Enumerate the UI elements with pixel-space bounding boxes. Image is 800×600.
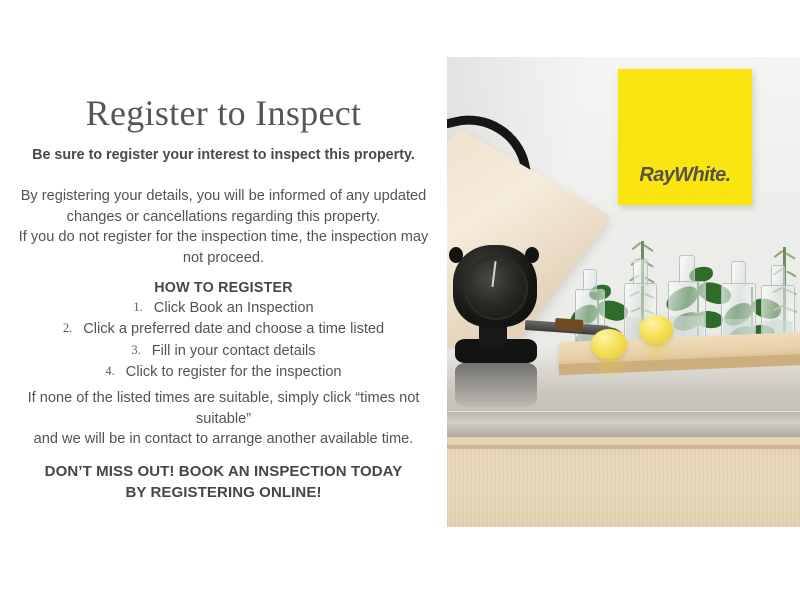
intro-paragraph-block: By registering your details, you will be… xyxy=(4,186,443,269)
call-to-action-line: BY REGISTERING ONLINE! xyxy=(8,482,439,503)
call-to-action: DON’T MISS OUT! BOOK AN INSPECTION TODAY… xyxy=(8,461,439,504)
closing-line: If none of the listed times are suitable… xyxy=(4,388,443,409)
list-item-label: Click Book an Inspection xyxy=(154,300,314,316)
knife-handle xyxy=(555,318,584,332)
list-item: 4.Click to register for the inspection xyxy=(0,362,447,383)
list-item: 1.Click Book an Inspection xyxy=(0,298,447,319)
slide-canvas: Register to Inspect Be sure to register … xyxy=(0,0,800,600)
list-item-label: Click a preferred date and choose a time… xyxy=(83,321,384,337)
lemon-reflection xyxy=(641,343,673,363)
rosemary-needle xyxy=(785,252,795,260)
list-item: 3.Fill in your contact details xyxy=(0,341,447,362)
closing-line: and we will be in contact to arrange ano… xyxy=(4,429,443,450)
raywhite-wordmark: RayWhite. xyxy=(639,164,730,187)
list-item: 2.Click a preferred date and choose a ti… xyxy=(0,319,447,340)
timber-cabinetry xyxy=(447,437,800,527)
scale-reflection xyxy=(455,363,537,407)
lemon-reflection xyxy=(593,357,627,379)
closing-line: suitable” xyxy=(4,409,443,430)
property-photo: RayWhite. xyxy=(447,57,800,527)
call-to-action-line: DON’T MISS OUT! BOOK AN INSPECTION TODAY xyxy=(8,461,439,482)
bottle-neck xyxy=(633,259,648,286)
intro-line: not proceed. xyxy=(4,248,443,269)
text-column: Register to Inspect Be sure to register … xyxy=(0,0,447,600)
rosemary-needle xyxy=(786,270,797,277)
list-item-number: 1. xyxy=(133,300,142,314)
list-item-number: 2. xyxy=(63,321,72,335)
list-item-number: 3. xyxy=(131,343,140,357)
closing-paragraph-block: If none of the listed times are suitable… xyxy=(4,388,443,450)
intro-line: changes or cancellations regarding this … xyxy=(4,207,443,228)
lead-line: Be sure to register your interest to ins… xyxy=(0,146,447,165)
cabinetry-seam xyxy=(447,445,800,449)
raywhite-logo-sign: RayWhite. xyxy=(618,69,752,205)
rosemary-needle xyxy=(632,242,642,250)
list-item-label: Click to register for the inspection xyxy=(126,364,342,380)
rosemary-needle xyxy=(643,244,653,252)
bench-lip xyxy=(447,411,800,438)
lemon-half xyxy=(639,315,673,344)
lemon-half xyxy=(591,329,627,359)
how-to-register-heading: HOW TO REGISTER xyxy=(0,280,447,296)
intro-line: By registering your details, you will be… xyxy=(4,186,443,207)
list-item-number: 4. xyxy=(105,364,114,378)
list-item-label: Fill in your contact details xyxy=(152,343,316,359)
bottle-neck xyxy=(679,255,695,284)
how-to-register-steps: 1.Click Book an Inspection 2.Click a pre… xyxy=(0,298,447,384)
page-title: Register to Inspect xyxy=(0,94,447,134)
intro-line: If you do not register for the inspectio… xyxy=(4,227,443,248)
